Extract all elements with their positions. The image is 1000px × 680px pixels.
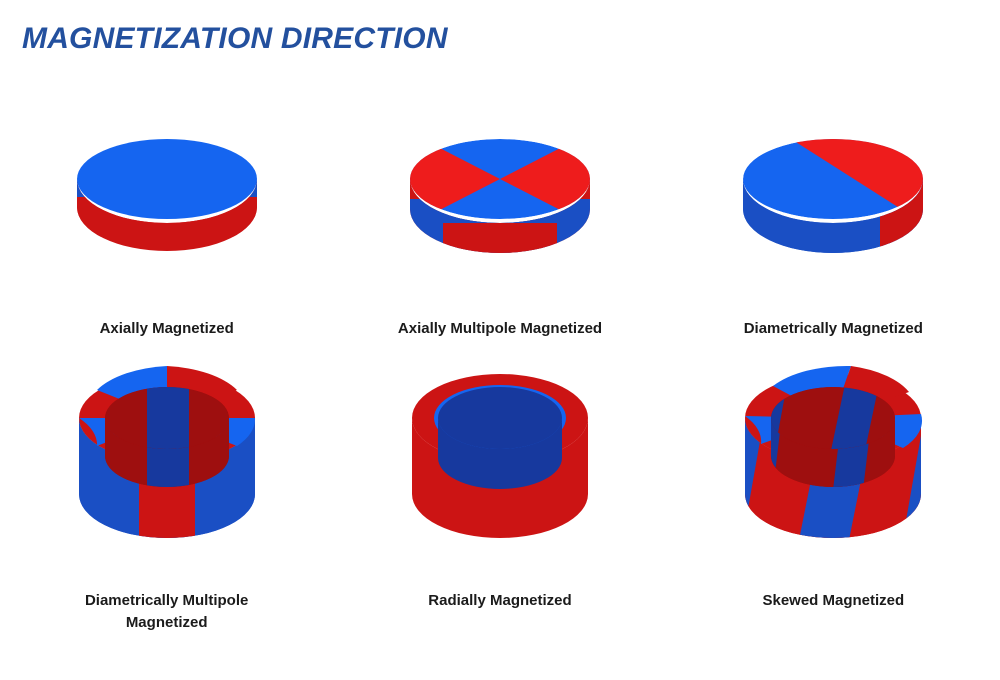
magnet-illustration-radial [400, 360, 600, 570]
magnet-card-diametrically-multipole-magnetized[interactable]: Diametrically Multipole Magnetized [0, 360, 333, 680]
magnet-card-axially-magnetized[interactable]: Axially Magnetized [0, 95, 333, 360]
magnet-illustration-skewed [733, 360, 933, 570]
magnet-caption: Skewed Magnetized [762, 590, 904, 612]
magnet-illustration-axial [72, 95, 262, 300]
magnet-illustration-diametric-multipole [67, 360, 267, 570]
magnet-gallery: Axially Magnetized [0, 95, 1000, 680]
magnet-caption: Diametrically Magnetized [744, 318, 923, 340]
magnet-caption: Diametrically Multipole Magnetized [85, 590, 248, 634]
magnet-caption: Axially Magnetized [100, 318, 234, 340]
ring-skewed-svg [733, 370, 933, 560]
slide-canvas: MAGNETIZATION DIRECTION [0, 0, 1000, 680]
page-title: MAGNETIZATION DIRECTION [22, 22, 448, 56]
disc-diametric-svg [738, 135, 928, 260]
ring-radial-svg [400, 370, 600, 560]
magnet-illustration-diametric [738, 95, 928, 300]
magnet-row-bottom: Diametrically Multipole Magnetized [0, 360, 1000, 680]
ring-bore-opening [438, 387, 562, 449]
disc-axial-multipole-svg [405, 135, 595, 260]
magnet-card-diametrically-magnetized[interactable]: Diametrically Magnetized [667, 95, 1000, 360]
magnet-card-axially-multipole-magnetized[interactable]: Axially Multipole Magnetized [333, 95, 666, 360]
magnet-card-skewed-magnetized[interactable]: Skewed Magnetized [667, 360, 1000, 680]
disc-top-face [77, 139, 257, 219]
magnet-caption: Axially Multipole Magnetized [398, 318, 602, 340]
magnet-card-radially-magnetized[interactable]: Radially Magnetized [333, 360, 666, 680]
magnet-caption: Radially Magnetized [428, 590, 571, 612]
magnet-illustration-axial-multipole [405, 95, 595, 300]
magnet-row-top: Axially Magnetized [0, 95, 1000, 360]
ring-diametric-multipole-svg [67, 370, 267, 560]
disc-axial-svg [72, 135, 262, 260]
front-quadrant-red [443, 223, 557, 257]
